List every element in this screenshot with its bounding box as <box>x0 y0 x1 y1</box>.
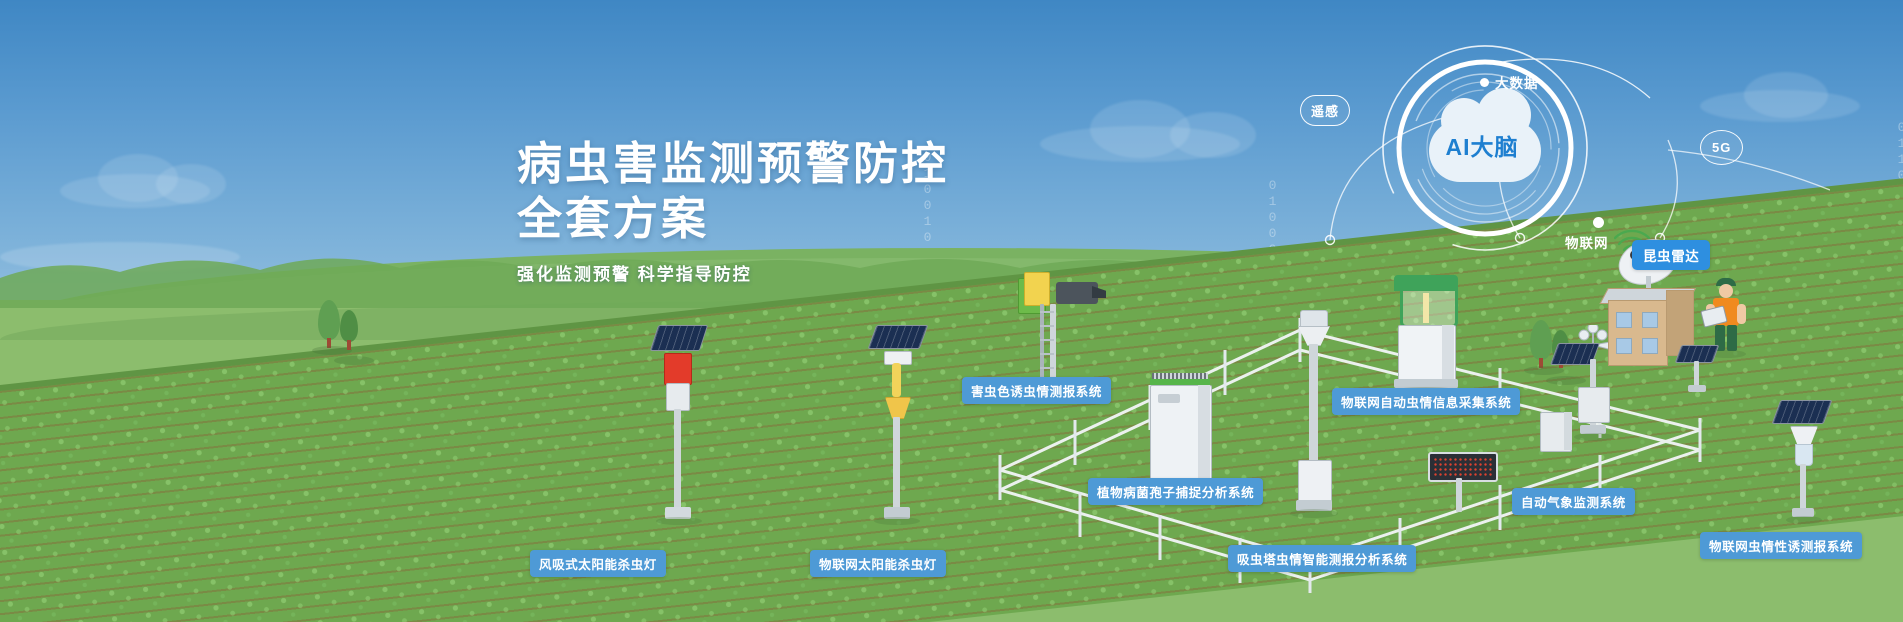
solar-panel <box>650 325 708 351</box>
building-window-d <box>1642 338 1658 354</box>
worker-head <box>1719 284 1733 298</box>
ai-node-iot-dot <box>1593 217 1604 228</box>
device-pheromone-forecast <box>1768 400 1848 530</box>
ai-brain-label: AI大脑 <box>1426 128 1538 162</box>
cabinet-screen <box>1158 394 1180 403</box>
building-window-c <box>1616 338 1632 354</box>
device-color-lure-forecast <box>1000 260 1110 395</box>
building-window-a <box>1616 312 1632 328</box>
lure-board-yellow <box>1024 272 1050 306</box>
label-pheromone-forecast[interactable]: 物联网虫情性诱测报系统 <box>1700 532 1862 559</box>
cabinet-top <box>1150 378 1210 385</box>
lamp-pole <box>893 417 900 509</box>
lamp-tube <box>892 363 901 397</box>
collector-frame <box>1400 291 1458 328</box>
ai-node-big-data-dot <box>1480 78 1489 87</box>
illustration-canvas: 010010100110 010001011010 010110010011 0… <box>0 0 1903 622</box>
ai-node-iot[interactable]: 物联网 <box>1565 232 1609 252</box>
camera-unit <box>1056 282 1098 304</box>
building-window-b <box>1642 312 1658 328</box>
aux-base <box>1688 385 1706 392</box>
hero-title-line-2: 全套方案 <box>517 191 949 246</box>
solar-panel <box>1772 400 1833 424</box>
tower-control-box <box>1298 460 1332 502</box>
ai-node-big-data[interactable]: 大数据 <box>1495 72 1539 92</box>
aux-cabinet <box>1540 412 1574 456</box>
trap-pole <box>1800 464 1806 510</box>
hero-subtitle: 强化监测预警 科学指导防控 <box>517 260 949 285</box>
solar-panel <box>868 325 929 349</box>
aux-solar-unit <box>1678 345 1722 395</box>
collector-cone <box>885 397 911 419</box>
lamp-head <box>664 353 692 385</box>
collector-body-side <box>1442 325 1454 379</box>
label-spore-capture[interactable]: 植物病菌孢子捕捉分析系统 <box>1088 478 1263 505</box>
label-wind-suction-solar-lamp[interactable]: 风吸式太阳能杀虫灯 <box>530 550 666 577</box>
tower-head <box>1300 310 1328 328</box>
building-front <box>1608 300 1668 366</box>
trap-jar <box>1795 444 1813 466</box>
worker-legs-2 <box>1727 325 1737 351</box>
hero-title-block: 病虫害监测预警防控 全套方案 强化监测预警 科学指导防控 <box>517 136 949 285</box>
lamp-body <box>666 383 690 411</box>
ai-node-5g[interactable]: 5G <box>1700 130 1743 165</box>
label-iot-solar-lamp[interactable]: 物联网太阳能杀虫灯 <box>810 550 946 577</box>
label-insect-radar[interactable]: 昆虫雷达 <box>1632 240 1710 270</box>
label-color-lure-forecast[interactable]: 害虫色诱虫情测报系统 <box>962 377 1111 404</box>
tree-left-b <box>340 310 358 350</box>
camera-visor <box>1092 286 1106 298</box>
cabinet-vent <box>1152 373 1208 379</box>
ai-node-remote-sensing[interactable]: 遥感 <box>1300 95 1350 126</box>
aux-cabinet-side <box>1564 412 1572 450</box>
device-wind-suction-solar-lamp <box>640 325 720 540</box>
label-iot-pest-collector[interactable]: 物联网自动虫情信息采集系统 <box>1332 388 1520 415</box>
cabinet-side <box>1198 385 1210 481</box>
tree-left-a <box>318 300 340 348</box>
label-suction-tower[interactable]: 吸虫塔虫情智能测报分析系统 <box>1228 545 1416 572</box>
label-weather-station[interactable]: 自动气象监测系统 <box>1512 488 1635 515</box>
device-suction-tower <box>1290 310 1340 540</box>
station-box <box>1578 387 1610 423</box>
tower-funnel <box>1298 326 1330 346</box>
device-iot-solar-lamp <box>862 325 938 540</box>
aux-pole <box>1694 361 1699 387</box>
led-dot-matrix <box>1433 457 1493 477</box>
collector-canopy <box>1394 275 1458 291</box>
lamp-pole <box>674 409 681 509</box>
ladder-rungs <box>1040 304 1060 384</box>
worker-arm-right <box>1737 304 1746 324</box>
collector-lamp <box>1423 293 1429 323</box>
trap-funnel <box>1790 426 1818 446</box>
led-board-pole <box>1456 478 1462 512</box>
hero-title-line-1: 病虫害监测预警防控 <box>517 136 949 191</box>
led-display-board <box>1428 452 1498 482</box>
